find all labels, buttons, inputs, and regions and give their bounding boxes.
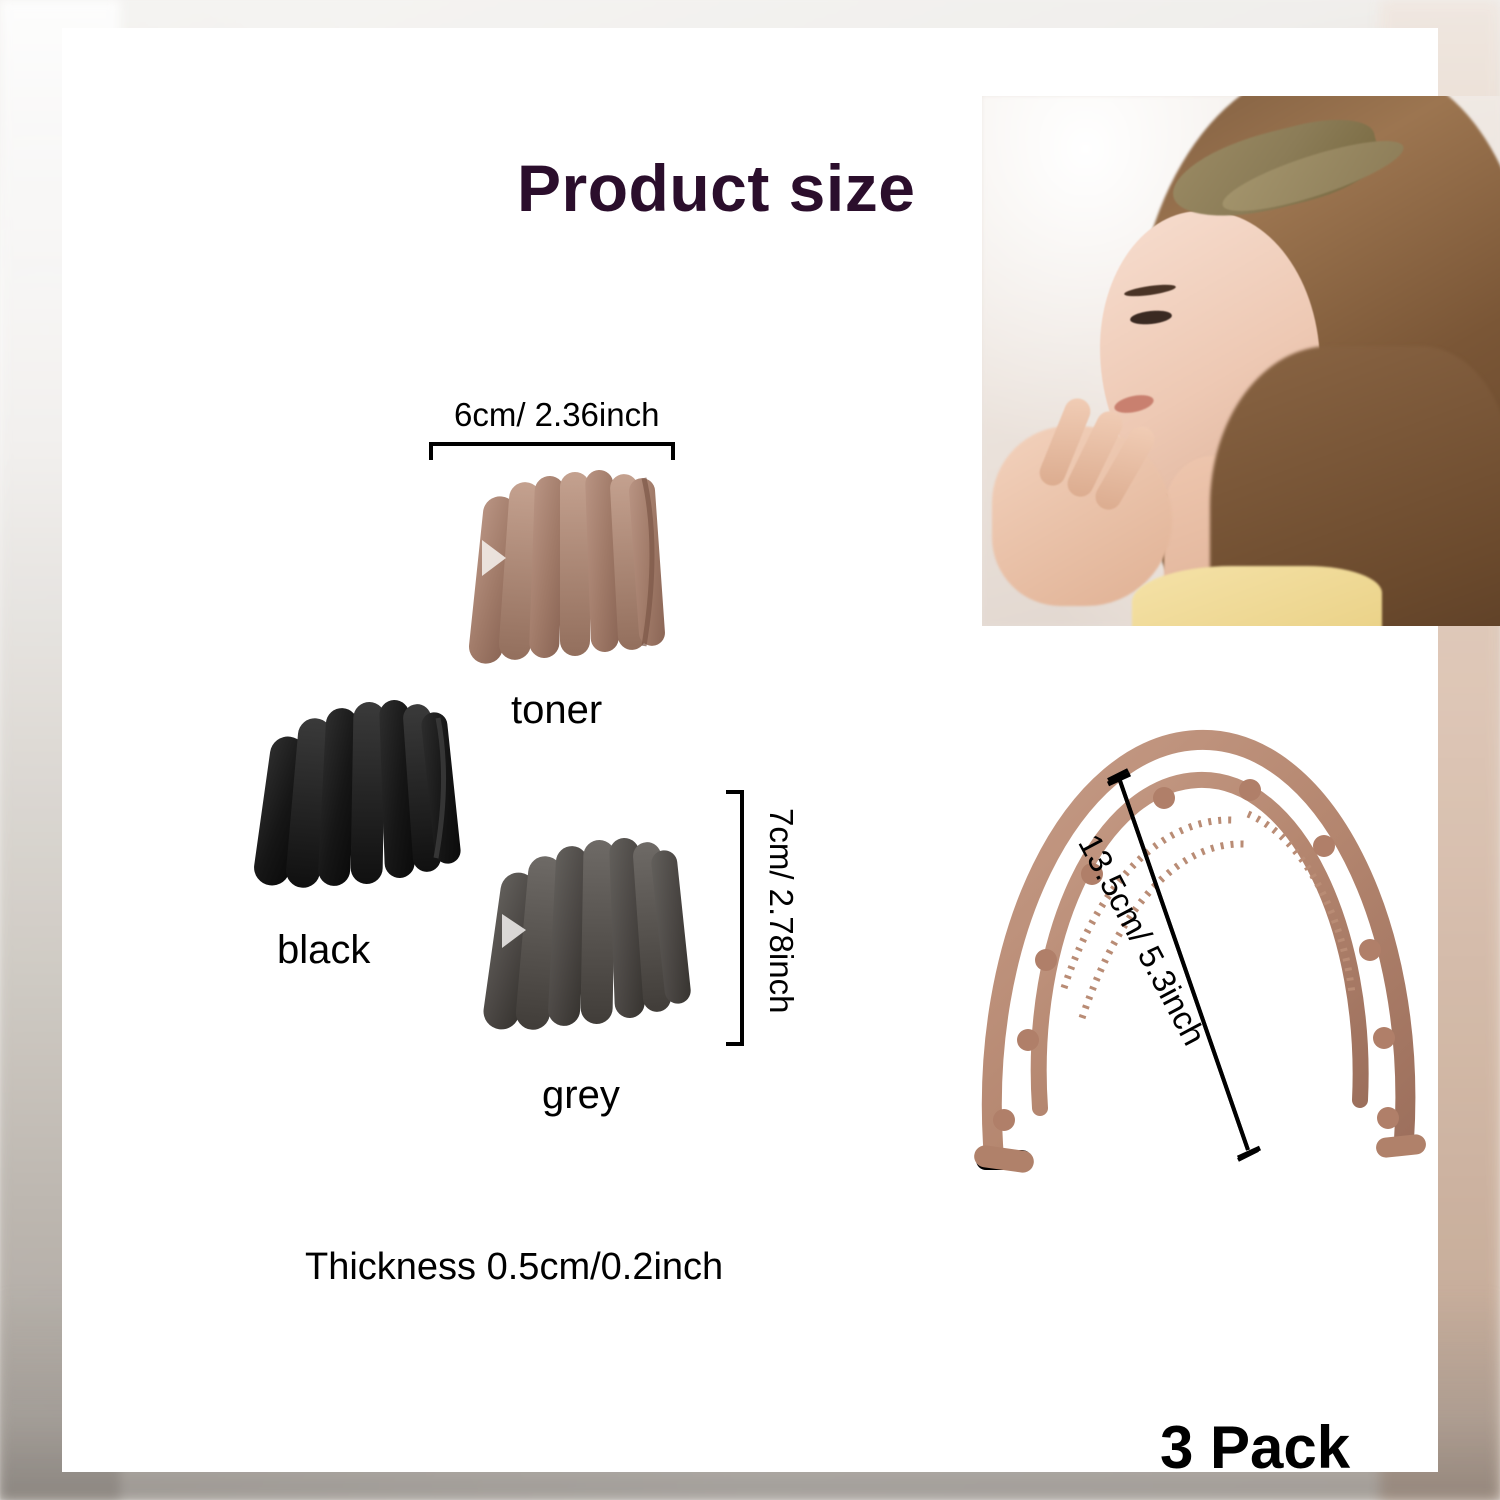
headband-photo — [932, 688, 1462, 1208]
model-shirt — [1132, 566, 1382, 626]
product-label-black: black — [277, 928, 370, 973]
product-label-grey: grey — [542, 1073, 620, 1118]
width-dimension-label: 6cm/ 2.36inch — [454, 396, 659, 434]
product-clip-grey — [482, 818, 712, 1048]
thickness-label: Thickness 0.5cm/0.2inch — [305, 1246, 723, 1289]
product-clip-toner — [462, 448, 692, 678]
product-clip-black — [252, 678, 482, 908]
height-dimension-label: 7cm/ 2.78inch — [762, 808, 800, 1013]
page-title: Product size — [517, 150, 915, 226]
product-image-canvas: Product size 6cm/ 2.36inch — [0, 0, 1500, 1500]
pack-count-label: 3 Pack — [1160, 1413, 1350, 1482]
white-info-card: Product size 6cm/ 2.36inch — [62, 28, 1438, 1472]
product-label-toner: toner — [511, 688, 602, 733]
height-bracket — [722, 788, 748, 1048]
model-photo — [982, 96, 1500, 626]
band-length-bracket — [932, 688, 1462, 1208]
